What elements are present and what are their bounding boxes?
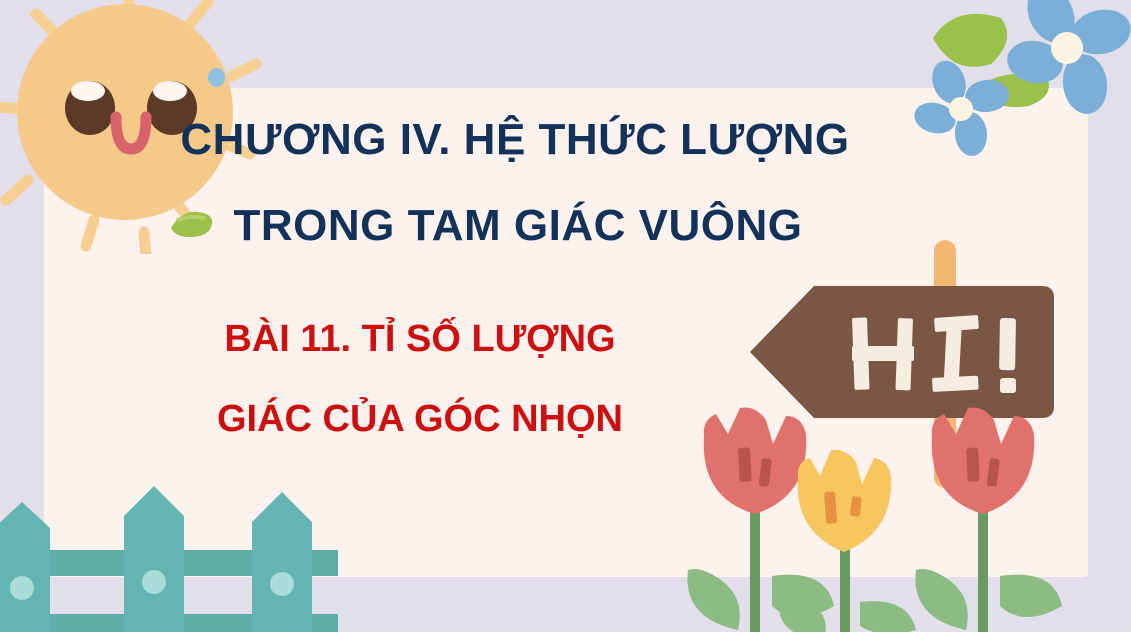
slide-canvas: CHƯƠNG IV. HỆ THỨC LƯỢNG TRONG TAM GIÁC … — [0, 0, 1131, 632]
tulip-yellow-middle — [779, 450, 916, 632]
tulips-illustration — [676, 400, 1131, 632]
corner-flowers-illustration — [905, 0, 1131, 167]
fence-pickets — [0, 486, 312, 632]
tulip-red-right — [915, 408, 1062, 632]
sun-body — [17, 4, 233, 220]
green-leaf-icon — [168, 206, 216, 240]
sun-illustration — [0, 0, 264, 254]
blue-dot-icon — [208, 68, 225, 87]
fence-illustration — [0, 466, 338, 632]
blossom-small — [911, 56, 1011, 157]
